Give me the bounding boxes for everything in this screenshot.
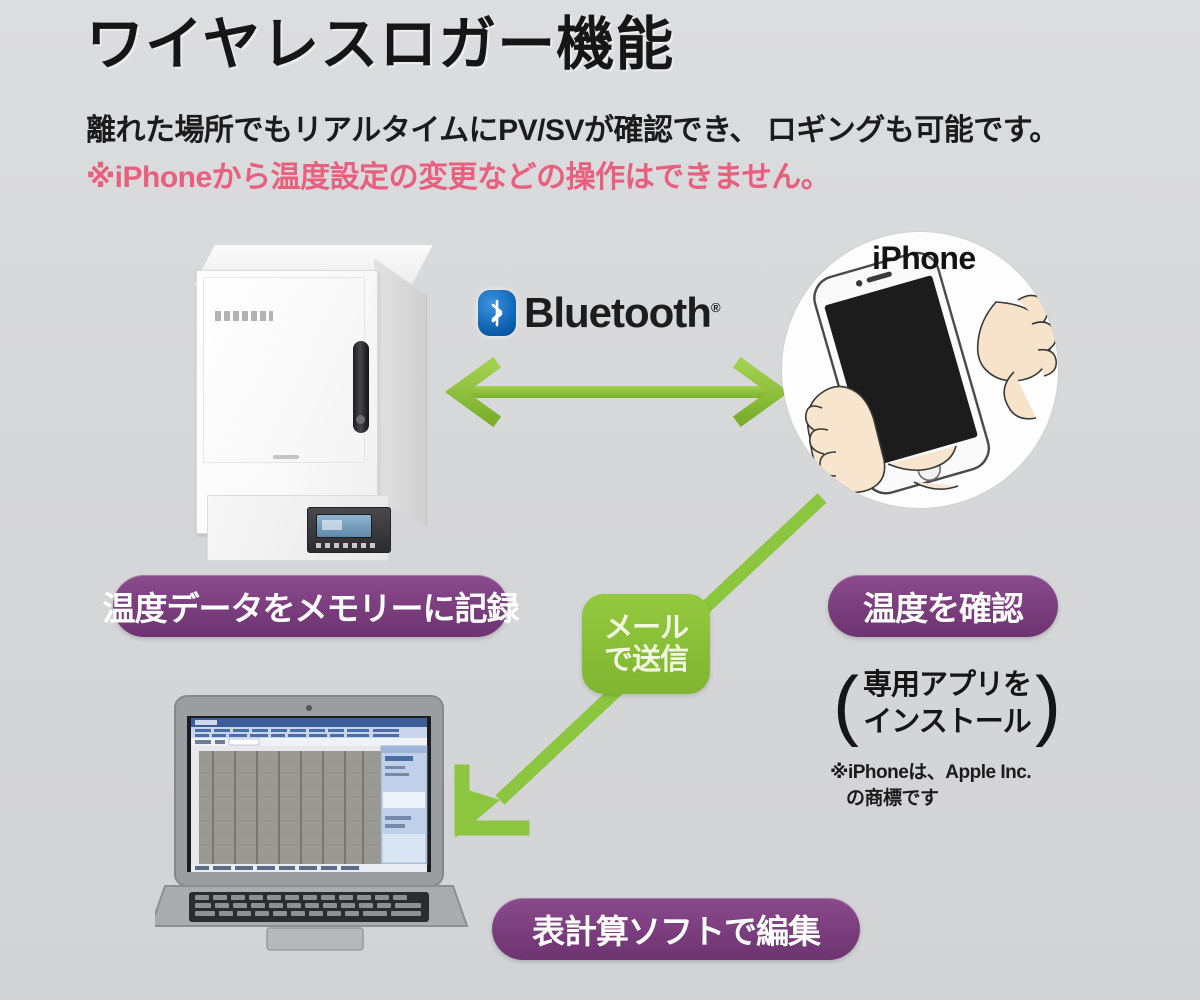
trademark-line-2: の商標です — [846, 786, 1031, 812]
bluetooth-icon — [478, 290, 516, 336]
oven-side-panel — [374, 258, 427, 526]
paren-open: ( — [833, 671, 859, 737]
oven-control-panel — [307, 507, 391, 553]
oven-brand-logo — [215, 311, 273, 321]
registered-trademark-icon: ® — [711, 300, 720, 315]
trademark-line-1: ※iPhoneは、Apple Inc. — [830, 762, 1031, 783]
label-record-to-memory: 温度データをメモリーに記録 — [113, 575, 508, 637]
send-by-mail-line-2: で送信 — [604, 644, 688, 676]
lab-oven-illustration — [186, 244, 436, 544]
paren-close: ) — [1035, 671, 1061, 737]
label-send-by-mail: メール で送信 — [582, 594, 710, 694]
oven-control-buttons — [316, 543, 378, 548]
laptop-screen — [187, 716, 431, 872]
oven-door — [203, 277, 365, 463]
oven-lcd-display — [316, 514, 372, 538]
infographic-canvas: ワイヤレスロガー機能 離れた場所でもリアルタイムにPV/SVが確認でき、 ロギン… — [0, 0, 1200, 1000]
subtitle-note: ※iPhoneから温度設定の変更などの操作はできません。 — [86, 152, 830, 196]
app-note-line-1: 専用アプリを — [863, 667, 1031, 704]
iphone-label: iPhone — [872, 240, 976, 277]
laptop-trackpad — [267, 928, 363, 950]
bluetooth-wordmark-text: Bluetooth — [524, 289, 711, 336]
app-install-note: ( 専用アプリを インストール ) — [822, 654, 1072, 754]
bluetooth-logo: Bluetooth® — [478, 290, 720, 336]
laptop-illustration — [155, 688, 475, 958]
bluetooth-wordmark: Bluetooth® — [524, 292, 720, 334]
oven-door-handle — [353, 341, 369, 433]
page-title: ワイヤレスロガー機能 — [86, 16, 674, 74]
subtitle-line-1: 離れた場所でもリアルタイムにPV/SVが確認でき、 ロギングも可能です。 — [86, 105, 1059, 149]
laptop-webcam — [306, 705, 312, 711]
oven-vent-slot — [273, 455, 299, 459]
bluetooth-double-arrow — [456, 366, 778, 418]
label-check-temperature: 温度を確認 — [828, 575, 1058, 637]
oven-front-body — [196, 270, 378, 534]
label-edit-with-spreadsheet: 表計算ソフトで編集 — [492, 898, 860, 960]
app-note-line-2: インストール — [863, 704, 1030, 741]
trademark-note: ※iPhoneは、Apple Inc. の商標です — [830, 760, 1031, 811]
send-by-mail-line-1: メール — [604, 612, 688, 644]
